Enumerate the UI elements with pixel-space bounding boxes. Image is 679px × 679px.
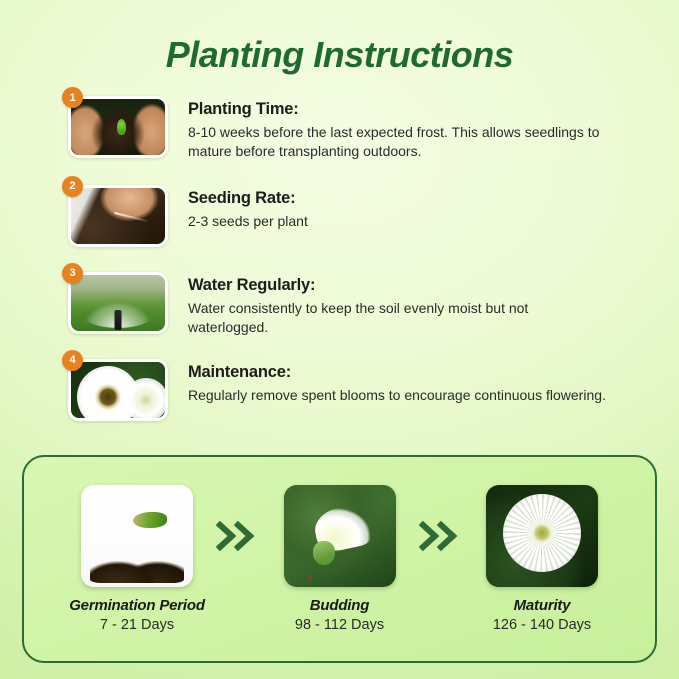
photo-art [486, 485, 598, 587]
growth-timeline-panel: Germination Period 7 - 21 Days Budding 9… [22, 455, 657, 663]
stage-days: 7 - 21 Days [62, 617, 212, 633]
step-thumbnail-wrap: 4 [68, 359, 168, 421]
step-number-badge: 4 [62, 350, 83, 371]
page-title: Planting Instructions [0, 0, 679, 76]
step-item: 3 Water Regularly: Water consistently to… [68, 272, 651, 337]
white-gerbera-daisies-photo [68, 359, 168, 421]
stage-days: 126 - 140 Days [467, 617, 617, 633]
mature-white-daisy-bloom-photo [486, 485, 598, 587]
step-body: Regularly remove spent blooms to encoura… [188, 386, 606, 405]
stage-days: 98 - 112 Days [265, 617, 415, 633]
step-number-badge: 2 [62, 176, 83, 197]
step-item: 2 Seeding Rate: 2-3 seeds per plant [68, 185, 651, 247]
step-thumbnail-wrap: 3 [68, 272, 168, 334]
step-heading: Maintenance: [188, 363, 606, 382]
photo-art [71, 275, 165, 331]
step-item: 1 Planting Time: 8-10 weeks before the l… [68, 96, 651, 161]
timeline-stage-budding: Budding 98 - 112 Days [265, 485, 415, 633]
photo-art [284, 485, 396, 587]
step-heading: Seeding Rate: [188, 189, 308, 208]
photo-art [71, 188, 165, 244]
planting-instructions-infographic: Planting Instructions 1 Planting Time: 8… [0, 0, 679, 421]
step-body: 8-10 weeks before the last expected fros… [188, 123, 608, 161]
steps-list: 1 Planting Time: 8-10 weeks before the l… [0, 96, 679, 421]
double-chevron-right-icon [212, 521, 264, 551]
step-text: Maintenance: Regularly remove spent bloo… [188, 359, 606, 405]
lawn-sprinkler-watering-photo [68, 272, 168, 334]
timeline-stage-maturity: Maturity 126 - 140 Days [467, 485, 617, 633]
photo-art [71, 99, 165, 155]
step-number-badge: 3 [62, 263, 83, 284]
timeline-stage-germination: Germination Period 7 - 21 Days [62, 485, 212, 633]
step-text: Planting Time: 8-10 weeks before the las… [188, 96, 608, 161]
hands-holding-soil-with-seedling-photo [68, 96, 168, 158]
step-body: 2-3 seeds per plant [188, 212, 308, 231]
step-thumbnail-wrap: 2 [68, 185, 168, 247]
step-number-badge: 1 [62, 87, 83, 108]
photo-art [71, 362, 165, 418]
step-thumbnail-wrap: 1 [68, 96, 168, 158]
step-text: Water Regularly: Water consistently to k… [188, 272, 608, 337]
photo-art [81, 485, 193, 587]
double-chevron-right-icon [415, 521, 467, 551]
stage-label: Germination Period [62, 597, 212, 614]
step-item: 4 Maintenance: Regularly remove spent bl… [68, 359, 651, 421]
stage-label: Budding [265, 597, 415, 614]
hand-sowing-seeds-in-tray-photo [68, 185, 168, 247]
step-text: Seeding Rate: 2-3 seeds per plant [188, 185, 308, 231]
flower-bud-opening-photo [284, 485, 396, 587]
step-body: Water consistently to keep the soil even… [188, 299, 608, 337]
stage-label: Maturity [467, 597, 617, 614]
step-heading: Planting Time: [188, 100, 608, 119]
step-heading: Water Regularly: [188, 276, 608, 295]
germinating-seed-sprout-photo [81, 485, 193, 587]
